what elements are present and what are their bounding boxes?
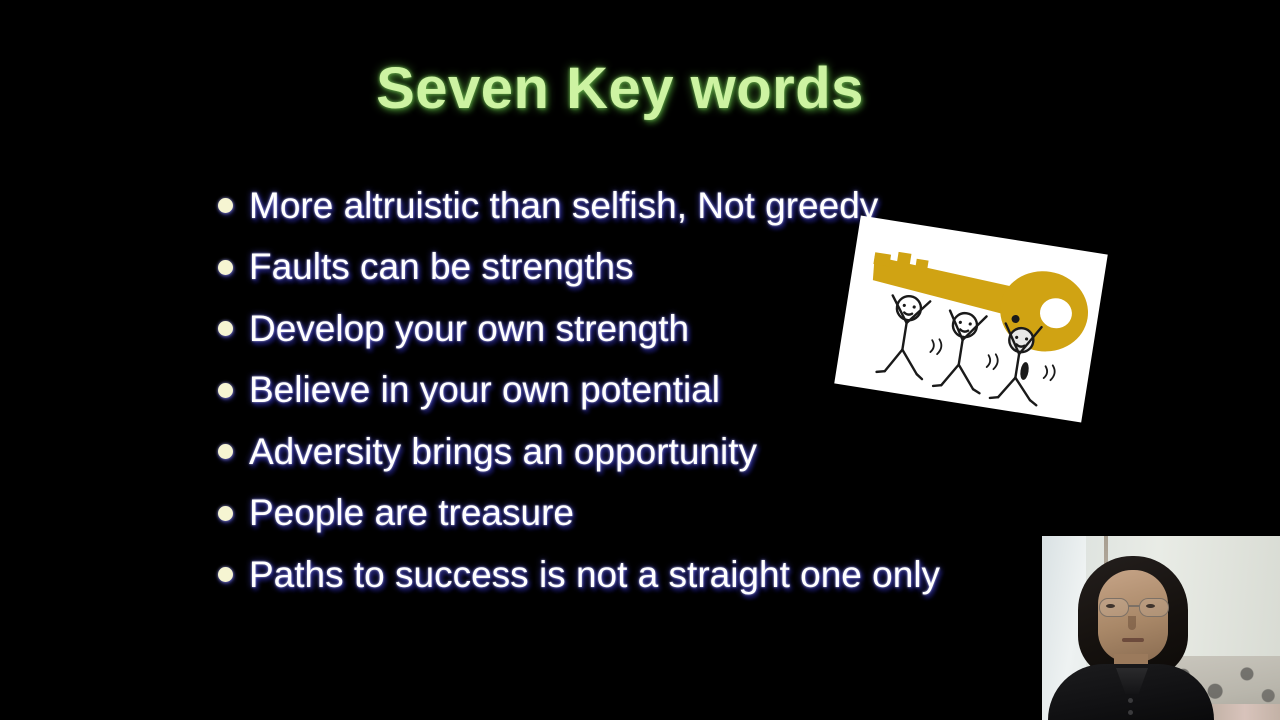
bullet-dot-icon <box>218 567 233 582</box>
list-item-label: Believe in your own potential <box>249 369 720 411</box>
glasses-lens-left <box>1099 598 1129 617</box>
avatar-nose <box>1128 616 1136 630</box>
list-item-label: Adversity brings an opportunity <box>249 431 757 473</box>
presenter-webcam-video[interactable] <box>1042 536 1280 720</box>
bullet-dot-icon <box>218 444 233 459</box>
glasses-icon <box>1097 598 1171 616</box>
bullet-dot-icon <box>218 198 233 213</box>
bullet-dot-icon <box>218 383 233 398</box>
list-item-label: People are treasure <box>249 492 574 534</box>
presentation-slide: Seven Key words More altruistic than sel… <box>0 0 1280 720</box>
page-title: Seven Key words <box>0 55 1240 122</box>
avatar-button <box>1128 698 1133 703</box>
list-item-label: Paths to success is not a straight one o… <box>249 554 940 596</box>
bullet-dot-icon <box>218 321 233 336</box>
list-item: Adversity brings an opportunity <box>218 421 1118 483</box>
bullet-dot-icon <box>218 260 233 275</box>
glasses-bridge <box>1128 605 1140 607</box>
list-item-label: Develop your own strength <box>249 308 689 350</box>
list-item: Paths to success is not a straight one o… <box>218 544 1118 606</box>
list-item: People are treasure <box>218 483 1118 545</box>
list-item-label: More altruistic than selfish, Not greedy <box>249 185 878 227</box>
avatar-button <box>1128 710 1133 715</box>
avatar-mouth <box>1122 638 1144 642</box>
list-item: More altruistic than selfish, Not greedy <box>218 175 1118 237</box>
bullet-dot-icon <box>218 506 233 521</box>
glasses-lens-right <box>1139 598 1169 617</box>
list-item-label: Faults can be strengths <box>249 246 634 288</box>
